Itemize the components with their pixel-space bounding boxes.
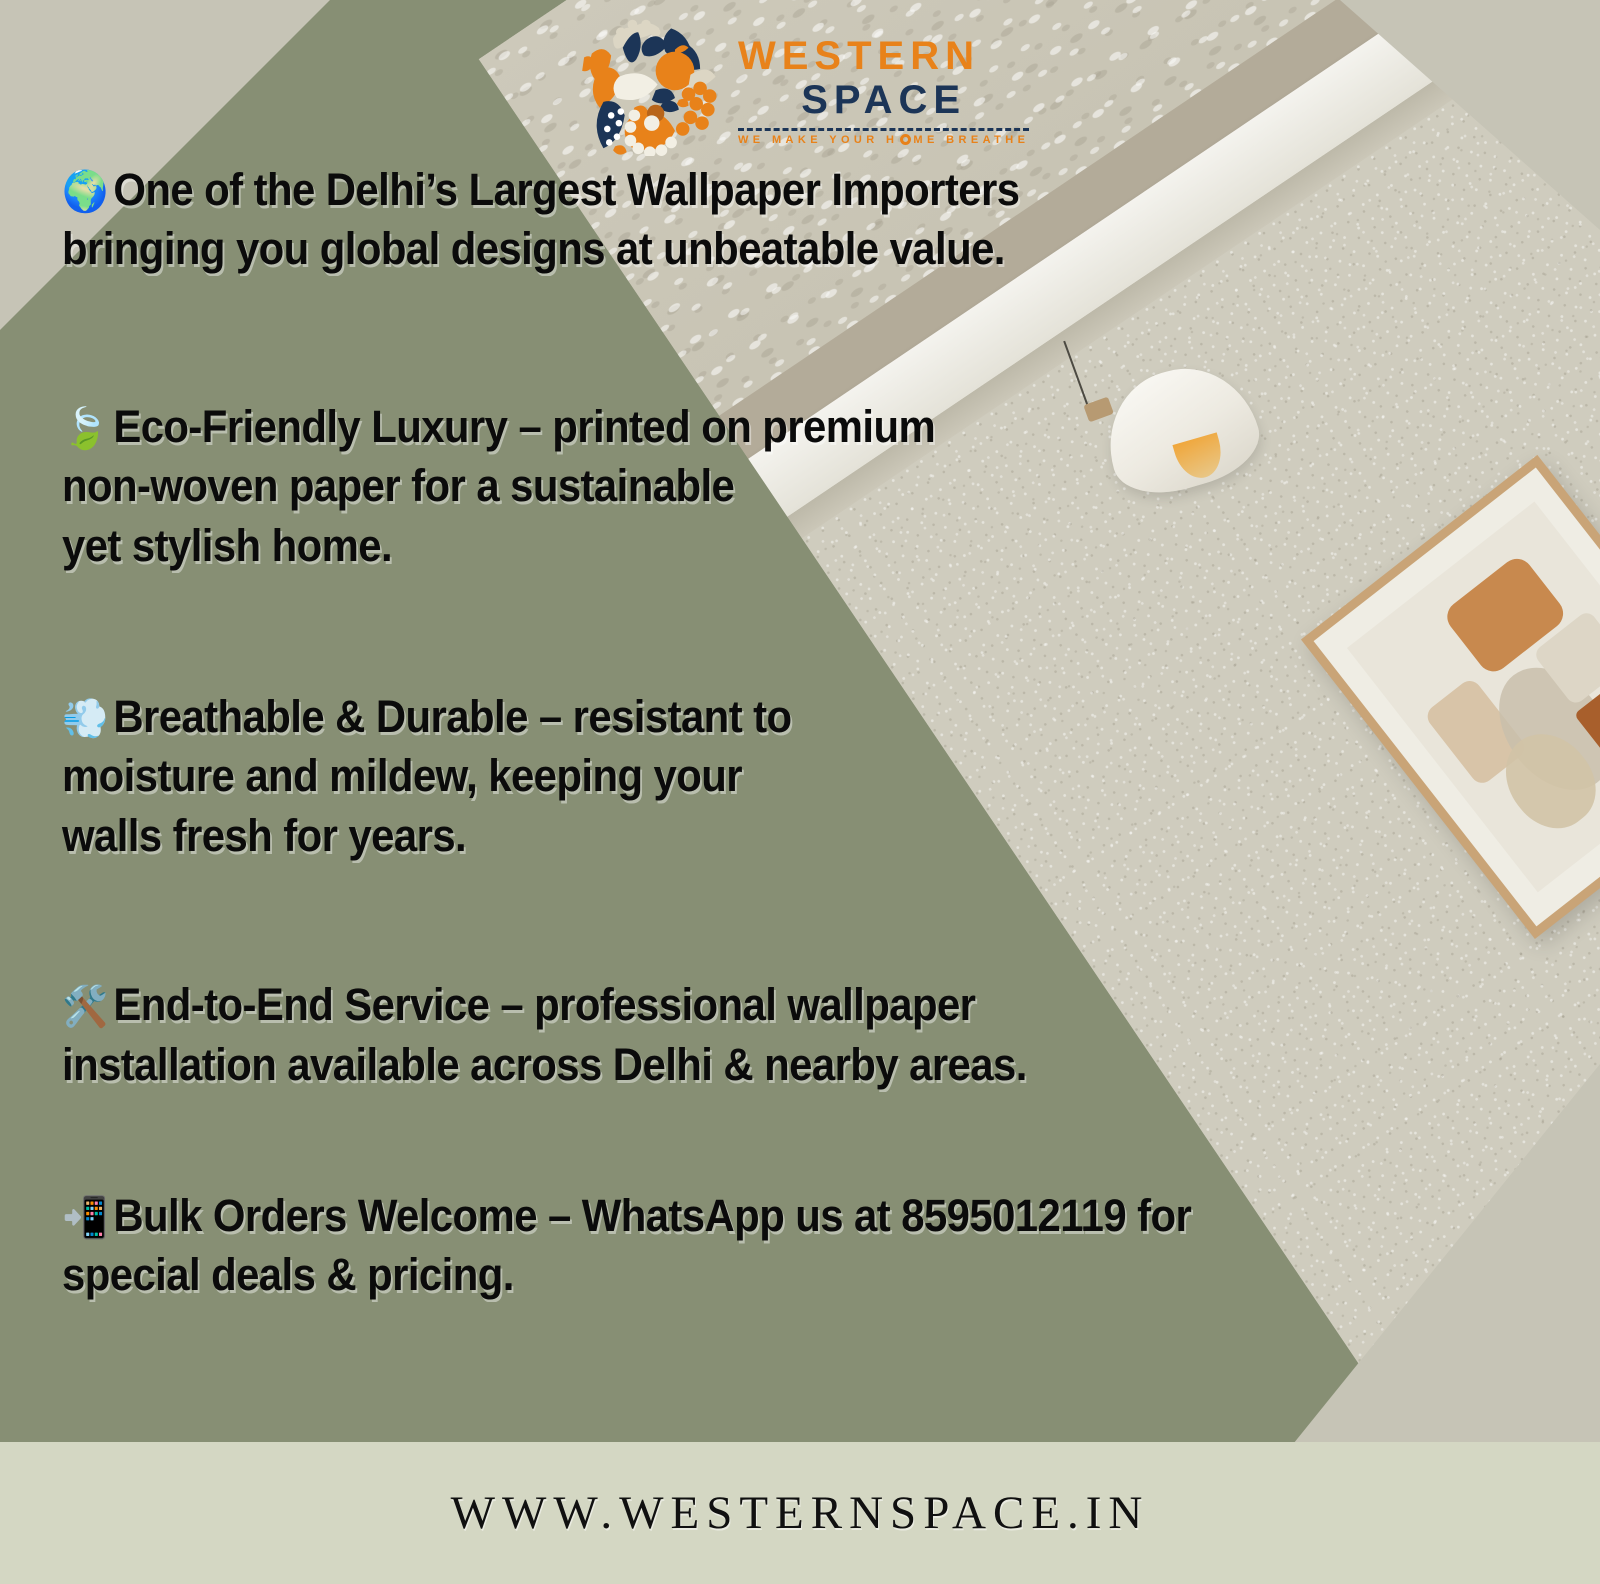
feature-item-end-to-end-service: 🛠️End-to-End Service – professional wall… [62,975,1460,1094]
leaf-fluttering-in-wind-icon: 🍃 [62,407,108,451]
feature-text: Eco-Friendly Luxury – printed on premium… [62,401,935,571]
dashing-away-wind-icon: 💨 [62,697,108,741]
feature-text: Breathable & Durable – resistant to mois… [62,691,792,861]
footer-band: WWW.WESTERNSPACE.IN [0,1442,1600,1584]
feature-item-eco-friendly: 🍃Eco-Friendly Luxury – printed on premiu… [62,397,1460,575]
tagline-ring-icon [900,134,911,145]
poster-canvas: WESTERN SPACE WE MAKE YOUR H ME BREATHE … [0,0,1600,1584]
feature-text: Bulk Orders Welcome – WhatsApp us at 859… [62,1190,1191,1300]
feature-item-importers: 🌍One of the Delhi’s Largest Wallpaper Im… [62,160,1460,279]
feature-list: 🌍One of the Delhi’s Largest Wallpaper Im… [0,160,1460,1305]
folk-botanical-circle-icon [560,11,730,156]
website-url[interactable]: WWW.WESTERNSPACE.IN [451,1486,1150,1540]
hammer-and-wrench-icon: 🛠️ [62,985,108,1029]
feature-item-bulk-orders: 📲Bulk Orders Welcome – WhatsApp us at 85… [62,1186,1460,1305]
logo-western-text: WESTERN [738,35,1029,77]
logo-space-text: SPACE [738,77,1029,123]
tagline-part-before: WE MAKE YOUR H [738,134,898,146]
logo-divider [738,128,1029,131]
feature-text: End-to-End Service – professional wallpa… [62,979,1027,1089]
mobile-phone-with-arrow-icon: 📲 [62,1196,108,1240]
feature-text: One of the Delhi’s Largest Wallpaper Imp… [62,164,1019,274]
feature-item-breathable: 💨Breathable & Durable – resistant to moi… [62,687,1460,865]
globe-showing-europe-africa-icon: 🌍 [62,170,108,214]
tagline-part-after: ME BREATHE [913,134,1029,146]
logo-tagline: WE MAKE YOUR H ME BREATHE [738,134,1029,146]
brand-logo: WESTERN SPACE WE MAKE YOUR H ME BREATHE [560,8,980,158]
